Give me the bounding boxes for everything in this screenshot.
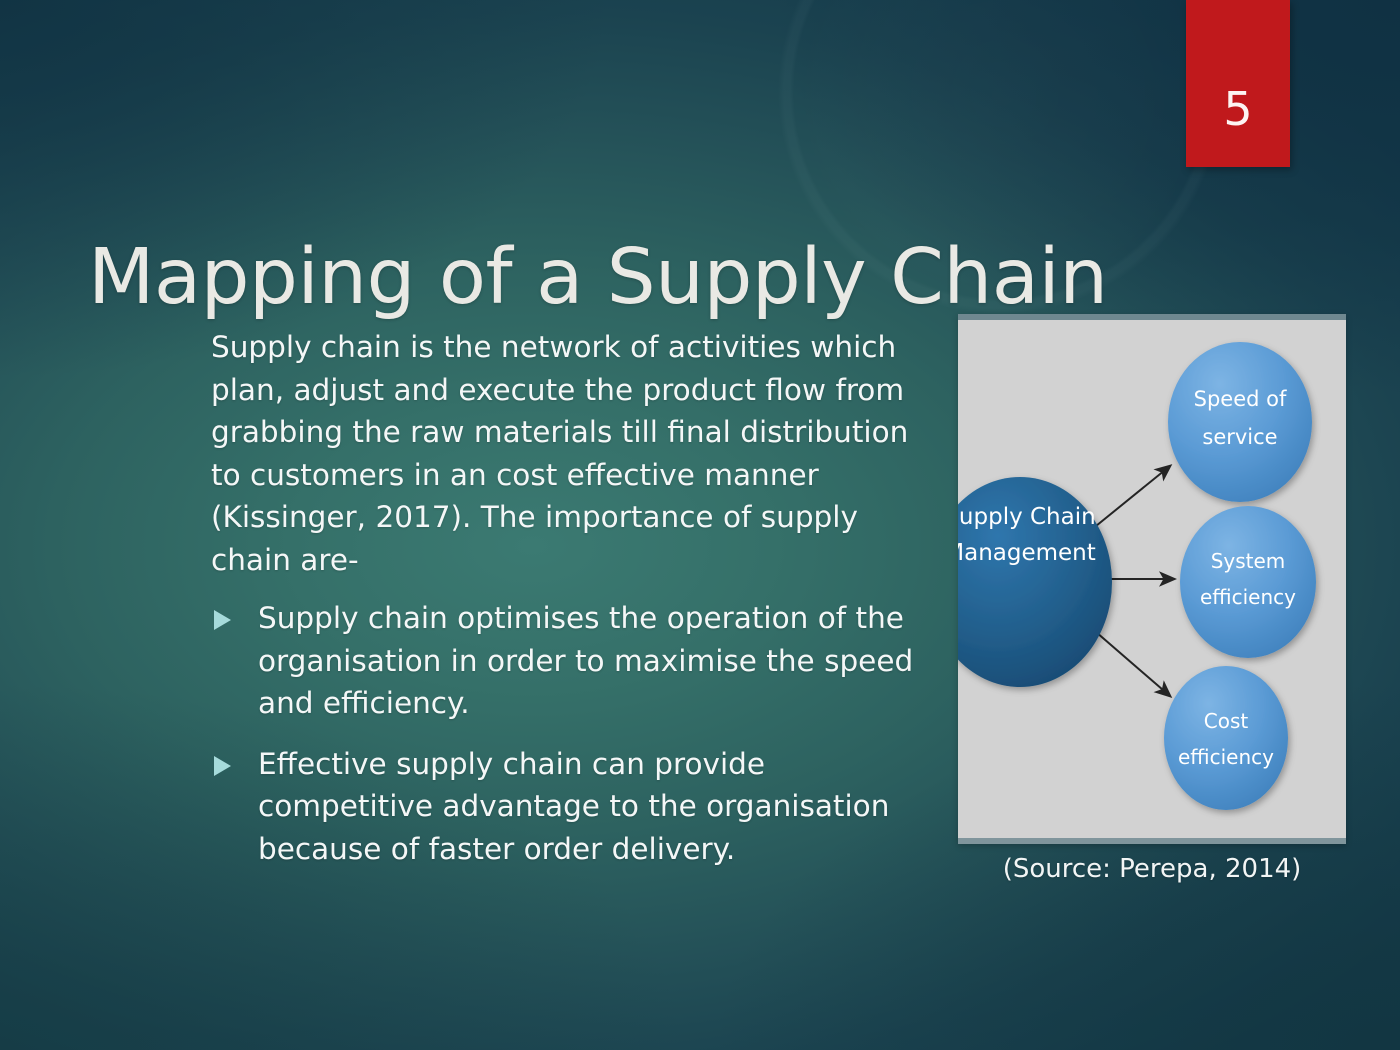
triangle-bullet-icon [214,756,231,776]
body-content-column: Supply chain is the network of activitie… [211,326,923,870]
slide-number-badge: 5 [1186,0,1290,167]
node-cost-efficiency [1164,666,1288,810]
source-caption: (Source: Perepa, 2014) [958,853,1346,885]
presentation-slide: 5 Mapping of a Supply Chain Supply chain… [0,0,1400,1050]
list-item-label: Effective supply chain can provide compe… [258,747,889,866]
node-speed-label-line1: Speed of [1194,387,1287,411]
node-system-label-line1: System [1211,549,1286,573]
node-system-efficiency [1180,506,1316,658]
node-speed-of-service [1168,342,1312,502]
page-title: Mapping of a Supply Chain [88,230,1168,326]
list-item: Effective supply chain can provide compe… [211,743,923,871]
hub-label-line2: Management [958,540,1096,566]
slide-number-text: 5 [1186,86,1290,132]
intro-paragraph: Supply chain is the network of activitie… [211,326,923,581]
triangle-bullet-icon [214,610,231,630]
diagram-svg: Supply Chain Management Speed of service… [958,314,1346,844]
list-item-label: Supply chain optimises the operation of … [258,601,913,720]
hub-label-line1: Supply Chain [958,504,1096,530]
node-speed-label-line2: service [1202,425,1277,449]
list-item: Supply chain optimises the operation of … [211,597,923,725]
importance-bullet-list: Supply chain optimises the operation of … [211,597,923,870]
node-system-label-line2: efficiency [1200,585,1296,609]
supply-chain-diagram-image: Supply Chain Management Speed of service… [958,314,1346,844]
node-cost-label-line2: efficiency [1178,745,1274,769]
node-cost-label-line1: Cost [1204,709,1249,733]
